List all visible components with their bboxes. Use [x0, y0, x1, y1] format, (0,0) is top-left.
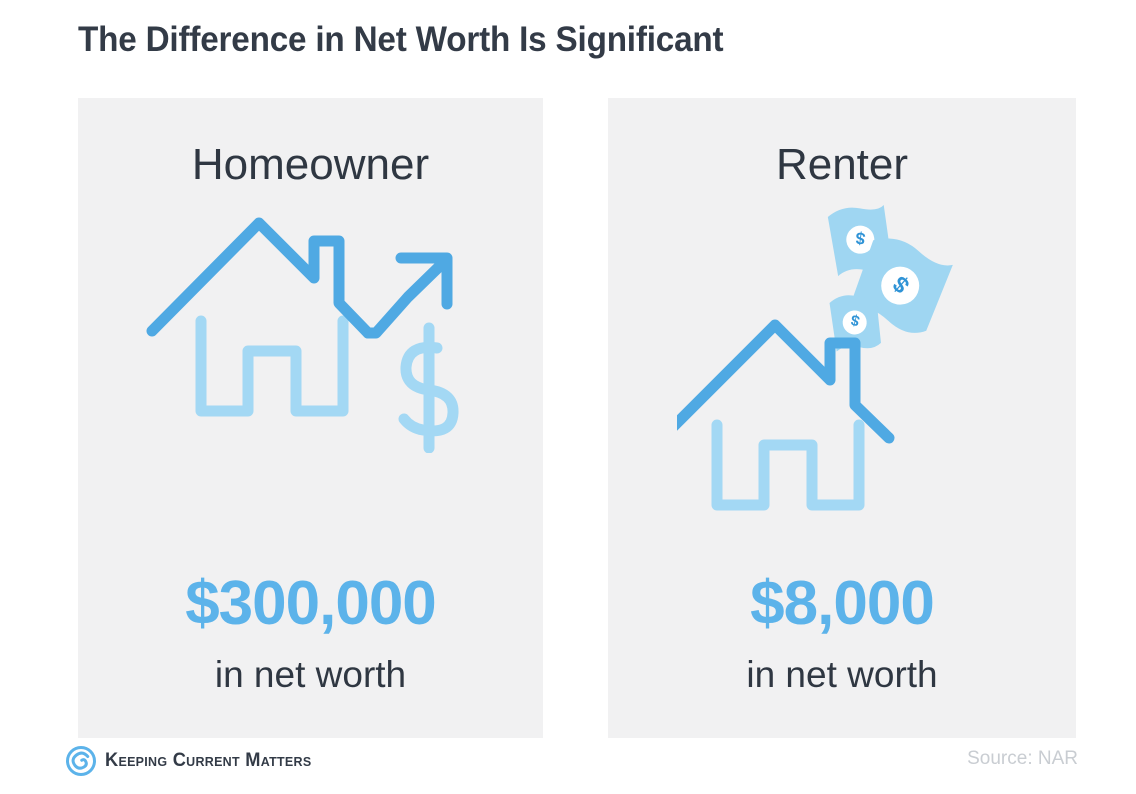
infographic-page: The Difference in Net Worth Is Significa… — [0, 0, 1136, 794]
panel-heading-renter: Renter — [608, 140, 1076, 190]
net-worth-amount-homeowner: $300,000 — [78, 568, 543, 639]
panel-renter: Renter $ $ — [608, 98, 1076, 738]
keeping-current-matters-swirl-logo — [66, 746, 96, 776]
panel-homeowner: Homeowner $300,000 — [78, 98, 543, 738]
panel-heading-homeowner: Homeowner — [78, 140, 543, 190]
house-with-growth-arrow-and-dollar-icon — [78, 203, 543, 533]
net-worth-caption-renter: in net worth — [608, 654, 1076, 696]
money-bills: $ $ $ — [827, 203, 954, 352]
brand-logo-text: Keeping Current Matters — [105, 750, 311, 772]
net-worth-caption-homeowner: in net worth — [78, 654, 543, 696]
house-with-money-flying-out-icon: $ $ $ — [608, 203, 1076, 533]
brand-logo: Keeping Current Matters — [66, 746, 320, 776]
page-title: The Difference in Net Worth Is Significa… — [78, 20, 723, 60]
net-worth-amount-renter: $8,000 — [608, 568, 1076, 639]
source-attribution: Source: NAR — [967, 748, 1078, 770]
